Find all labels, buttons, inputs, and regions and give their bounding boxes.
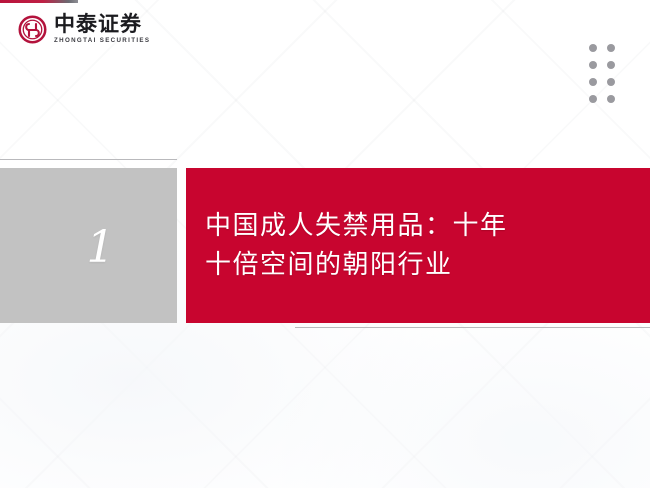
grid-dot: [589, 95, 597, 103]
zhongtai-emblem-icon: [18, 15, 47, 44]
divider-above-number-block: [0, 159, 177, 160]
brand-name-en: ZHONGTAI SECURITIES: [54, 38, 150, 44]
slide-canvas: 中泰证券 ZHONGTAI SECURITIES 1 中国成人失禁用品：十年 十…: [0, 0, 650, 488]
grid-dot: [589, 78, 597, 86]
grid-dot: [607, 95, 615, 103]
section-number: 1: [87, 226, 115, 270]
brand-name-cn: 中泰证券: [54, 14, 150, 35]
grid-dot: [607, 61, 615, 69]
grid-dot: [607, 44, 615, 52]
top-left-accent-bar: [0, 0, 78, 3]
grid-dot: [589, 61, 597, 69]
brand-logo-text: 中泰证券 ZHONGTAI SECURITIES: [54, 14, 150, 44]
grid-dot: [607, 78, 615, 86]
decorative-dot-grid: [589, 44, 615, 103]
section-title-banner: 中国成人失禁用品：十年 十倍空间的朝阳行业: [186, 168, 650, 323]
section-number-block: 1: [0, 168, 177, 323]
brand-logo: 中泰证券 ZHONGTAI SECURITIES: [18, 14, 150, 44]
divider-below-title-banner: [295, 327, 650, 328]
grid-dot: [589, 44, 597, 52]
section-title: 中国成人失禁用品：十年 十倍空间的朝阳行业: [186, 207, 522, 284]
